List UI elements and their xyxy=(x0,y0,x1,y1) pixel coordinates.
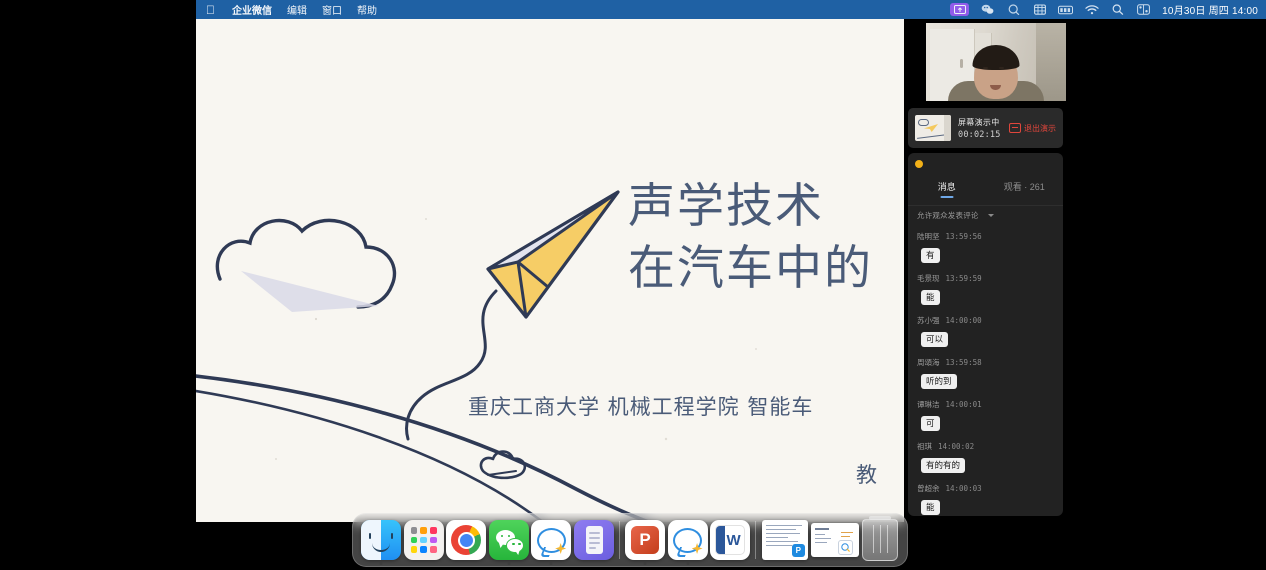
allow-comments-label: 允许观众发表评论 xyxy=(917,210,979,221)
chat-message-header: 祖琪 14:00:02 xyxy=(917,441,1054,452)
trash-icon xyxy=(862,519,898,561)
wechat-bubble-small xyxy=(506,538,524,553)
word-icon: W xyxy=(710,520,750,560)
menu-bar-status-items: 10月30日 周四 14:00 xyxy=(950,2,1258,17)
finder-icon xyxy=(361,520,401,560)
chat-message-header: 周頌海 13:59:58 xyxy=(917,357,1054,368)
chat-message-text: 听的到 xyxy=(921,374,957,389)
macos-dock: P W xyxy=(352,513,908,567)
webcam-person-eye-left xyxy=(983,67,988,69)
chat-message: 毛景现 13:59:59 能 xyxy=(917,273,1054,305)
dock-item-finder[interactable] xyxy=(360,513,402,567)
slide-title-line2: 在汽车中的 xyxy=(628,238,904,300)
self-view-webcam[interactable] xyxy=(926,23,1066,101)
slide-subtitle: 重庆工商大学 机械工程学院 智能车 xyxy=(468,391,904,421)
slide-title: 声学技术 在汽车中的 xyxy=(628,176,904,300)
chat-message: 谭琳洁 14:00:01 可 xyxy=(917,399,1054,431)
purple-app-card xyxy=(586,526,603,554)
running-indicator xyxy=(644,562,647,565)
dock-divider-2 xyxy=(755,521,756,559)
chat-message-header: 毛景现 13:59:59 xyxy=(917,273,1054,284)
minimized-window-thumbnail: P xyxy=(762,520,808,560)
chat-message-text: 能 xyxy=(921,500,940,515)
running-indicator xyxy=(380,562,383,565)
chat-message-text: 有 xyxy=(921,248,940,263)
sharing-status-text: 屏幕演示中 00:02:15 xyxy=(958,117,1001,140)
spotlight-search-icon[interactable] xyxy=(1110,3,1125,16)
sharing-elapsed-time: 00:02:15 xyxy=(958,130,1001,140)
dock-item-powerpoint[interactable]: P xyxy=(624,513,666,567)
chat-message-list[interactable]: 陆明坚 13:59:56 有 毛景现 13:59:59 能 苏小强 14:00:… xyxy=(908,226,1063,516)
chat-message: 苏小强 14:00:00 可以 xyxy=(917,315,1054,347)
dock-item-trash[interactable] xyxy=(860,513,900,567)
wifi-icon[interactable] xyxy=(1084,3,1099,16)
screen-sharing-status-bar: 屏幕演示中 00:02:15 退出演示 xyxy=(908,108,1063,148)
dock-divider-1 xyxy=(619,521,620,559)
live-chat-panel: 消息 观看 · 261 允许观众发表评论 陆明坚 13:59:56 有 毛景现 xyxy=(908,153,1063,516)
chat-sender-name: 苏小强 xyxy=(917,315,940,326)
wecom-icon xyxy=(531,520,571,560)
chat-message-header: 谭琳洁 14:00:01 xyxy=(917,399,1054,410)
menu-bar-clock[interactable]: 10月30日 周四 14:00 xyxy=(1162,2,1258,17)
tab-messages[interactable]: 消息 xyxy=(908,177,986,193)
chat-sender-name: 陆明坚 xyxy=(917,231,940,242)
menu-item-window[interactable]: 窗口 xyxy=(322,2,342,17)
dock-item-purple-app[interactable] xyxy=(572,513,614,567)
finder-face xyxy=(361,520,401,560)
chat-panel-tabs: 消息 观看 · 261 xyxy=(908,177,1063,203)
shared-screen-thumbnail[interactable] xyxy=(915,115,951,141)
exit-presentation-label: 退出演示 xyxy=(1024,123,1056,134)
tab-messages-label: 消息 xyxy=(938,182,956,192)
siri-icon[interactable] xyxy=(1006,3,1021,16)
menu-item-help[interactable]: 帮助 xyxy=(357,2,377,17)
chat-message: 曾超余 14:00:03 能 xyxy=(917,483,1054,515)
tab-viewers-label: 观看 · 261 xyxy=(1004,182,1045,192)
wecom-icon xyxy=(668,520,708,560)
chat-sender-name: 曾超余 xyxy=(917,483,940,494)
dock-item-wecom[interactable] xyxy=(530,513,572,567)
thumbnail-side-panel xyxy=(944,115,951,141)
chat-timestamp: 14:00:02 xyxy=(938,442,974,451)
dock-item-wechat[interactable] xyxy=(487,513,529,567)
exit-presentation-icon xyxy=(1009,123,1021,133)
slide-subtitle-secondary: 教 xyxy=(856,459,878,489)
wechat-eye-4 xyxy=(518,543,520,545)
sharing-status-label: 屏幕演示中 xyxy=(958,117,1001,128)
wechat-eye-3 xyxy=(512,543,514,545)
dock-item-launchpad[interactable] xyxy=(402,513,444,567)
wecom-small-icon xyxy=(841,543,850,552)
dock-item-wecom-2[interactable] xyxy=(666,513,708,567)
chat-message-header: 曾超余 14:00:03 xyxy=(917,483,1054,494)
word-blue-bar xyxy=(716,526,725,554)
dock-item-word[interactable]: W xyxy=(709,513,751,567)
menu-bar-app-menus:  企业微信 编辑 窗口 帮助 xyxy=(206,2,377,17)
chat-timestamp: 13:59:56 xyxy=(946,232,982,241)
chat-message-text: 能 xyxy=(921,290,940,305)
chat-message-text: 可以 xyxy=(921,332,948,347)
chat-sender-name: 祖琪 xyxy=(917,441,932,452)
finder-eyes xyxy=(369,533,393,539)
apple-logo-icon[interactable]:  xyxy=(206,4,215,16)
chat-message: 周頌海 13:59:58 听的到 xyxy=(917,357,1054,389)
chevron-down-icon xyxy=(988,214,994,217)
chat-timestamp: 13:59:58 xyxy=(946,358,982,367)
webcam-person-eye-right xyxy=(999,67,1004,69)
chat-sender-name: 周頌海 xyxy=(917,357,940,368)
input-method-icon[interactable] xyxy=(1058,3,1073,16)
chat-message-text: 可 xyxy=(921,416,940,431)
chat-sender-name: 谭琳洁 xyxy=(917,399,940,410)
thumbnail-arc-line xyxy=(917,134,947,139)
calendar-icon[interactable] xyxy=(1032,3,1047,16)
chrome-icon xyxy=(446,520,486,560)
wechat-icon[interactable] xyxy=(980,3,995,16)
purple-app-icon xyxy=(574,520,614,560)
powerpoint-icon: P xyxy=(625,520,665,560)
desktop-screen:  企业微信 编辑 窗口 帮助 xyxy=(0,0,1266,570)
slide-title-line1: 声学技术 xyxy=(628,176,904,238)
chat-message-header: 苏小强 14:00:00 xyxy=(917,315,1054,326)
exit-presentation-button[interactable]: 退出演示 xyxy=(1009,123,1056,134)
shared-screen-slide: 声学技术 在汽车中的 重庆工商大学 机械工程学院 智能车 教 xyxy=(196,19,904,522)
minimized-window-badge xyxy=(838,540,853,555)
minimized-window-badge: P xyxy=(792,544,805,557)
dock-item-minimized-window-1[interactable]: P xyxy=(760,513,809,567)
chat-message-text: 有的有的 xyxy=(921,458,965,473)
thumbnail-cloud-icon xyxy=(918,119,929,126)
powerpoint-letter: P xyxy=(631,526,659,554)
chat-message-header: 陆明坚 13:59:56 xyxy=(917,231,1054,242)
chrome-ring xyxy=(451,525,481,555)
minimized-window-thumbnail xyxy=(811,523,859,557)
tab-viewers[interactable]: 观看 · 261 xyxy=(986,177,1064,193)
minimize-window-button[interactable] xyxy=(915,160,923,168)
launchpad-grid xyxy=(411,527,437,553)
chat-timestamp: 14:00:03 xyxy=(946,484,982,493)
dock-item-minimized-window-2[interactable] xyxy=(809,513,860,567)
chat-message: 陆明坚 13:59:56 有 xyxy=(917,231,1054,263)
dock-item-chrome[interactable] xyxy=(445,513,487,567)
chat-sender-name: 毛景现 xyxy=(917,273,940,284)
allow-comments-dropdown[interactable]: 允许观众发表评论 xyxy=(908,206,1063,224)
screen-share-icon[interactable] xyxy=(950,3,969,16)
chat-timestamp: 14:00:00 xyxy=(946,316,982,325)
chat-message: 祖琪 14:00:02 有的有的 xyxy=(917,441,1054,473)
running-indicator xyxy=(686,562,689,565)
launchpad-icon xyxy=(404,520,444,560)
macos-menu-bar:  企业微信 编辑 窗口 帮助 xyxy=(196,0,1266,19)
chat-timestamp: 14:00:01 xyxy=(946,400,982,409)
chrome-core xyxy=(458,532,475,549)
menu-item-edit[interactable]: 编辑 xyxy=(287,2,307,17)
chat-timestamp: 13:59:59 xyxy=(946,274,982,283)
control-center-icon[interactable] xyxy=(1136,3,1151,16)
menu-item-app-name[interactable]: 企业微信 xyxy=(232,2,272,17)
wechat-icon xyxy=(489,520,529,560)
running-indicator xyxy=(550,562,553,565)
word-letter: W xyxy=(715,525,745,555)
running-indicator xyxy=(507,562,510,565)
